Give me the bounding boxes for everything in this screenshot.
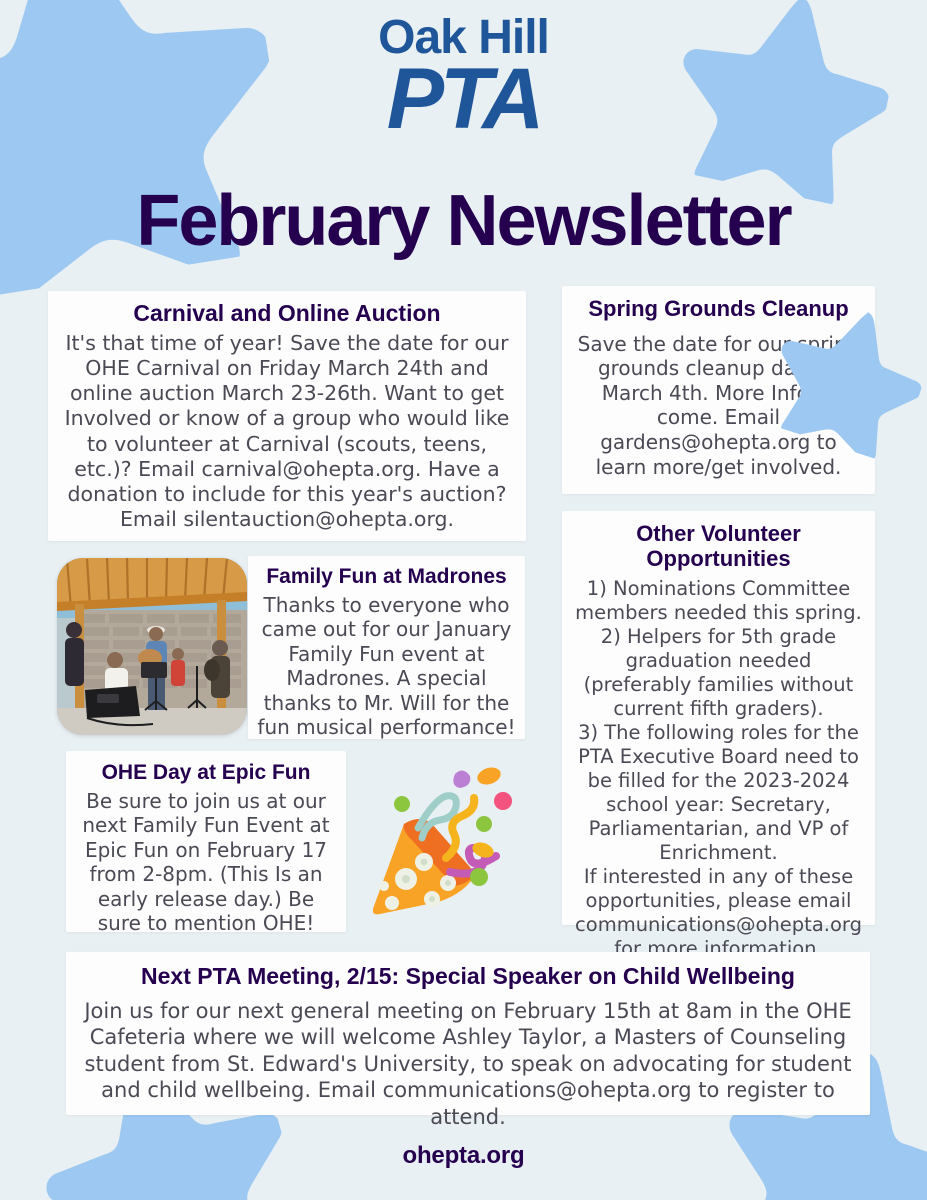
card-body: Be sure to join us at our next Family Fu… xyxy=(66,785,346,937)
volunteer-item-4: If interested in any of these opportunit… xyxy=(573,865,864,961)
card-ohe-day-at-epic-fun: OHE Day at Epic Fun Be sure to join us a… xyxy=(66,751,346,932)
card-other-volunteer-opportunities: Other Volunteer Opportunities 1) Nominat… xyxy=(562,511,875,925)
volunteer-item-1: 1) Nominations Committee members needed … xyxy=(573,577,864,625)
card-body: 1) Nominations Committee members needed … xyxy=(562,571,875,961)
card-body: Join us for our next general meeting on … xyxy=(66,990,870,1130)
card-title: Carnival and Online Auction xyxy=(48,291,526,327)
card-body: Thanks to everyone who came out for our … xyxy=(248,589,525,741)
card-body: It's that time of year! Save the date fo… xyxy=(48,327,526,533)
volunteer-item-2: 2) Helpers for 5th grade graduation need… xyxy=(573,625,864,721)
madrones-event-photo xyxy=(57,558,247,735)
footer-website[interactable]: ohepta.org xyxy=(0,1142,927,1170)
card-next-pta-meeting: Next PTA Meeting, 2/15: Special Speaker … xyxy=(66,952,870,1115)
card-carnival-and-online-auction: Carnival and Online Auction It's that ti… xyxy=(48,291,526,541)
party-popper-icon xyxy=(360,762,542,927)
card-family-fun-at-madrones: Family Fun at Madrones Thanks to everyon… xyxy=(248,556,525,739)
newsletter-page: Oak Hill PTA February Newsletter Carniva… xyxy=(0,0,927,1200)
card-title: Other Volunteer Opportunities xyxy=(562,511,875,571)
card-title: Next PTA Meeting, 2/15: Special Speaker … xyxy=(66,952,870,990)
pta-logo: Oak Hill PTA xyxy=(0,14,927,135)
volunteer-item-3: 3) The following roles for the PTA Execu… xyxy=(573,721,864,865)
page-title: February Newsletter xyxy=(0,185,927,257)
card-title: OHE Day at Epic Fun xyxy=(66,751,346,785)
logo-pta-text: PTA xyxy=(0,62,927,135)
card-title: Family Fun at Madrones xyxy=(248,556,525,589)
